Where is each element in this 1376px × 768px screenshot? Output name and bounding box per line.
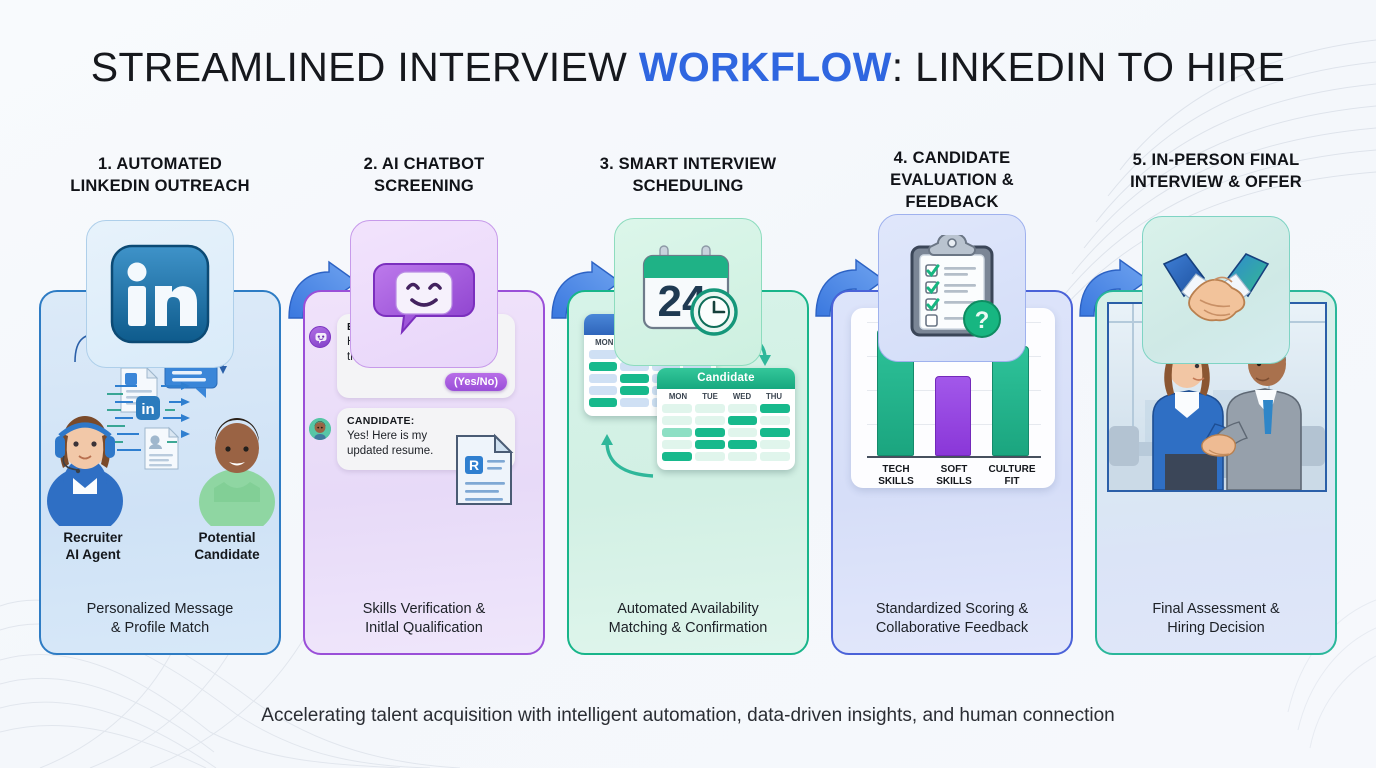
resume-letter: R	[469, 457, 479, 473]
step-1-person-label-2: Potential Candidate	[179, 530, 275, 564]
step-1-person-label-1: Recruiter AI Agent	[45, 530, 141, 564]
yes-no-chip[interactable]: (Yes/No)	[445, 373, 507, 391]
step-card-2[interactable]: 2. AI CHATBOT SCREENING BOT: Hi! Are you…	[299, 140, 549, 198]
chart-category-labels: TECH SKILLS SOFT SKILLS CULTURE FIT	[867, 464, 1041, 488]
svg-text:in: in	[141, 401, 154, 418]
step-2-icon-tile[interactable]	[350, 220, 498, 368]
step-card-4[interactable]: 4. CANDIDATE EVALUATION & FEEDBACK TECH …	[827, 140, 1077, 214]
candidate-avatar	[309, 418, 331, 440]
clipboard-question-badge: ?	[975, 307, 990, 334]
step-card-5[interactable]: 5. IN-PERSON FINAL INTERVIEW & OFFER	[1091, 140, 1341, 194]
page-title-before: STREAMLINED INTERVIEW	[91, 44, 639, 90]
chart-label-0: TECH SKILLS	[867, 464, 925, 488]
step-1-caption: Personalized Message & Profile Match	[41, 600, 279, 639]
step-4-icon-tile[interactable]: ?	[878, 214, 1026, 362]
step-3-caption: Automated Availability Matching & Confir…	[569, 600, 807, 639]
page-title: STREAMLINED INTERVIEW WORKFLOW: LINKEDIN…	[0, 44, 1376, 91]
step-5-icon-tile[interactable]	[1142, 216, 1290, 364]
bar-soft-skills	[935, 376, 972, 456]
page-title-after: : LINKEDIN TO HIRE	[892, 44, 1285, 90]
step-3-title: 3. SMART INTERVIEW SCHEDULING	[563, 154, 813, 198]
handshake-hands	[1202, 435, 1235, 456]
step-card-1[interactable]: 1. AUTOMATED LINKEDIN OUTREACH	[35, 140, 285, 198]
candidate-face-icon	[309, 418, 331, 440]
chatbot-icon	[370, 242, 478, 346]
step-1-icon-tile[interactable]	[86, 220, 234, 368]
bar-culture-fit	[992, 346, 1029, 456]
bot-avatar	[309, 326, 331, 348]
candidate-avatar	[199, 418, 275, 526]
resume-document-icon: R	[453, 432, 515, 508]
footer-tagline: Accelerating talent acquisition with int…	[0, 705, 1376, 727]
bot-face-icon	[310, 327, 332, 349]
step-5-caption: Final Assessment & Hiring Decision	[1097, 600, 1335, 639]
chat-text-candidate: Yes! Here is my updated resume.	[347, 429, 457, 458]
handshake-icon	[1160, 242, 1272, 338]
clipboard-check-icon: ?	[900, 235, 1004, 341]
step-2-title: 2. AI CHATBOT SCREENING	[299, 154, 549, 198]
calendar-clock-icon: 24	[634, 240, 742, 344]
page-title-highlight: WORKFLOW	[639, 44, 892, 90]
step-4-caption: Standardized Scoring & Collaborative Fee…	[833, 600, 1071, 639]
linkedin-icon	[108, 242, 212, 346]
chat-sender-candidate: CANDIDATE:	[347, 415, 505, 427]
recruiter-avatar	[47, 416, 123, 526]
step-4-title: 4. CANDIDATE EVALUATION & FEEDBACK	[827, 148, 1077, 214]
step-card-3[interactable]: 3. SMART INTERVIEW SCHEDULING Recruiter …	[563, 140, 813, 198]
chart-label-1: SOFT SKILLS	[925, 464, 983, 488]
chart-label-2: CULTURE FIT	[983, 464, 1041, 488]
step-3-icon-tile[interactable]: 24	[614, 218, 762, 366]
workflow-steps: 1. AUTOMATED LINKEDIN OUTREACH	[0, 140, 1376, 680]
step-5-title: 5. IN-PERSON FINAL INTERVIEW & OFFER	[1091, 150, 1341, 194]
step-1-title: 1. AUTOMATED LINKEDIN OUTREACH	[35, 154, 285, 198]
step-2-caption: Skills Verification & Initlal Qualificat…	[305, 600, 543, 639]
